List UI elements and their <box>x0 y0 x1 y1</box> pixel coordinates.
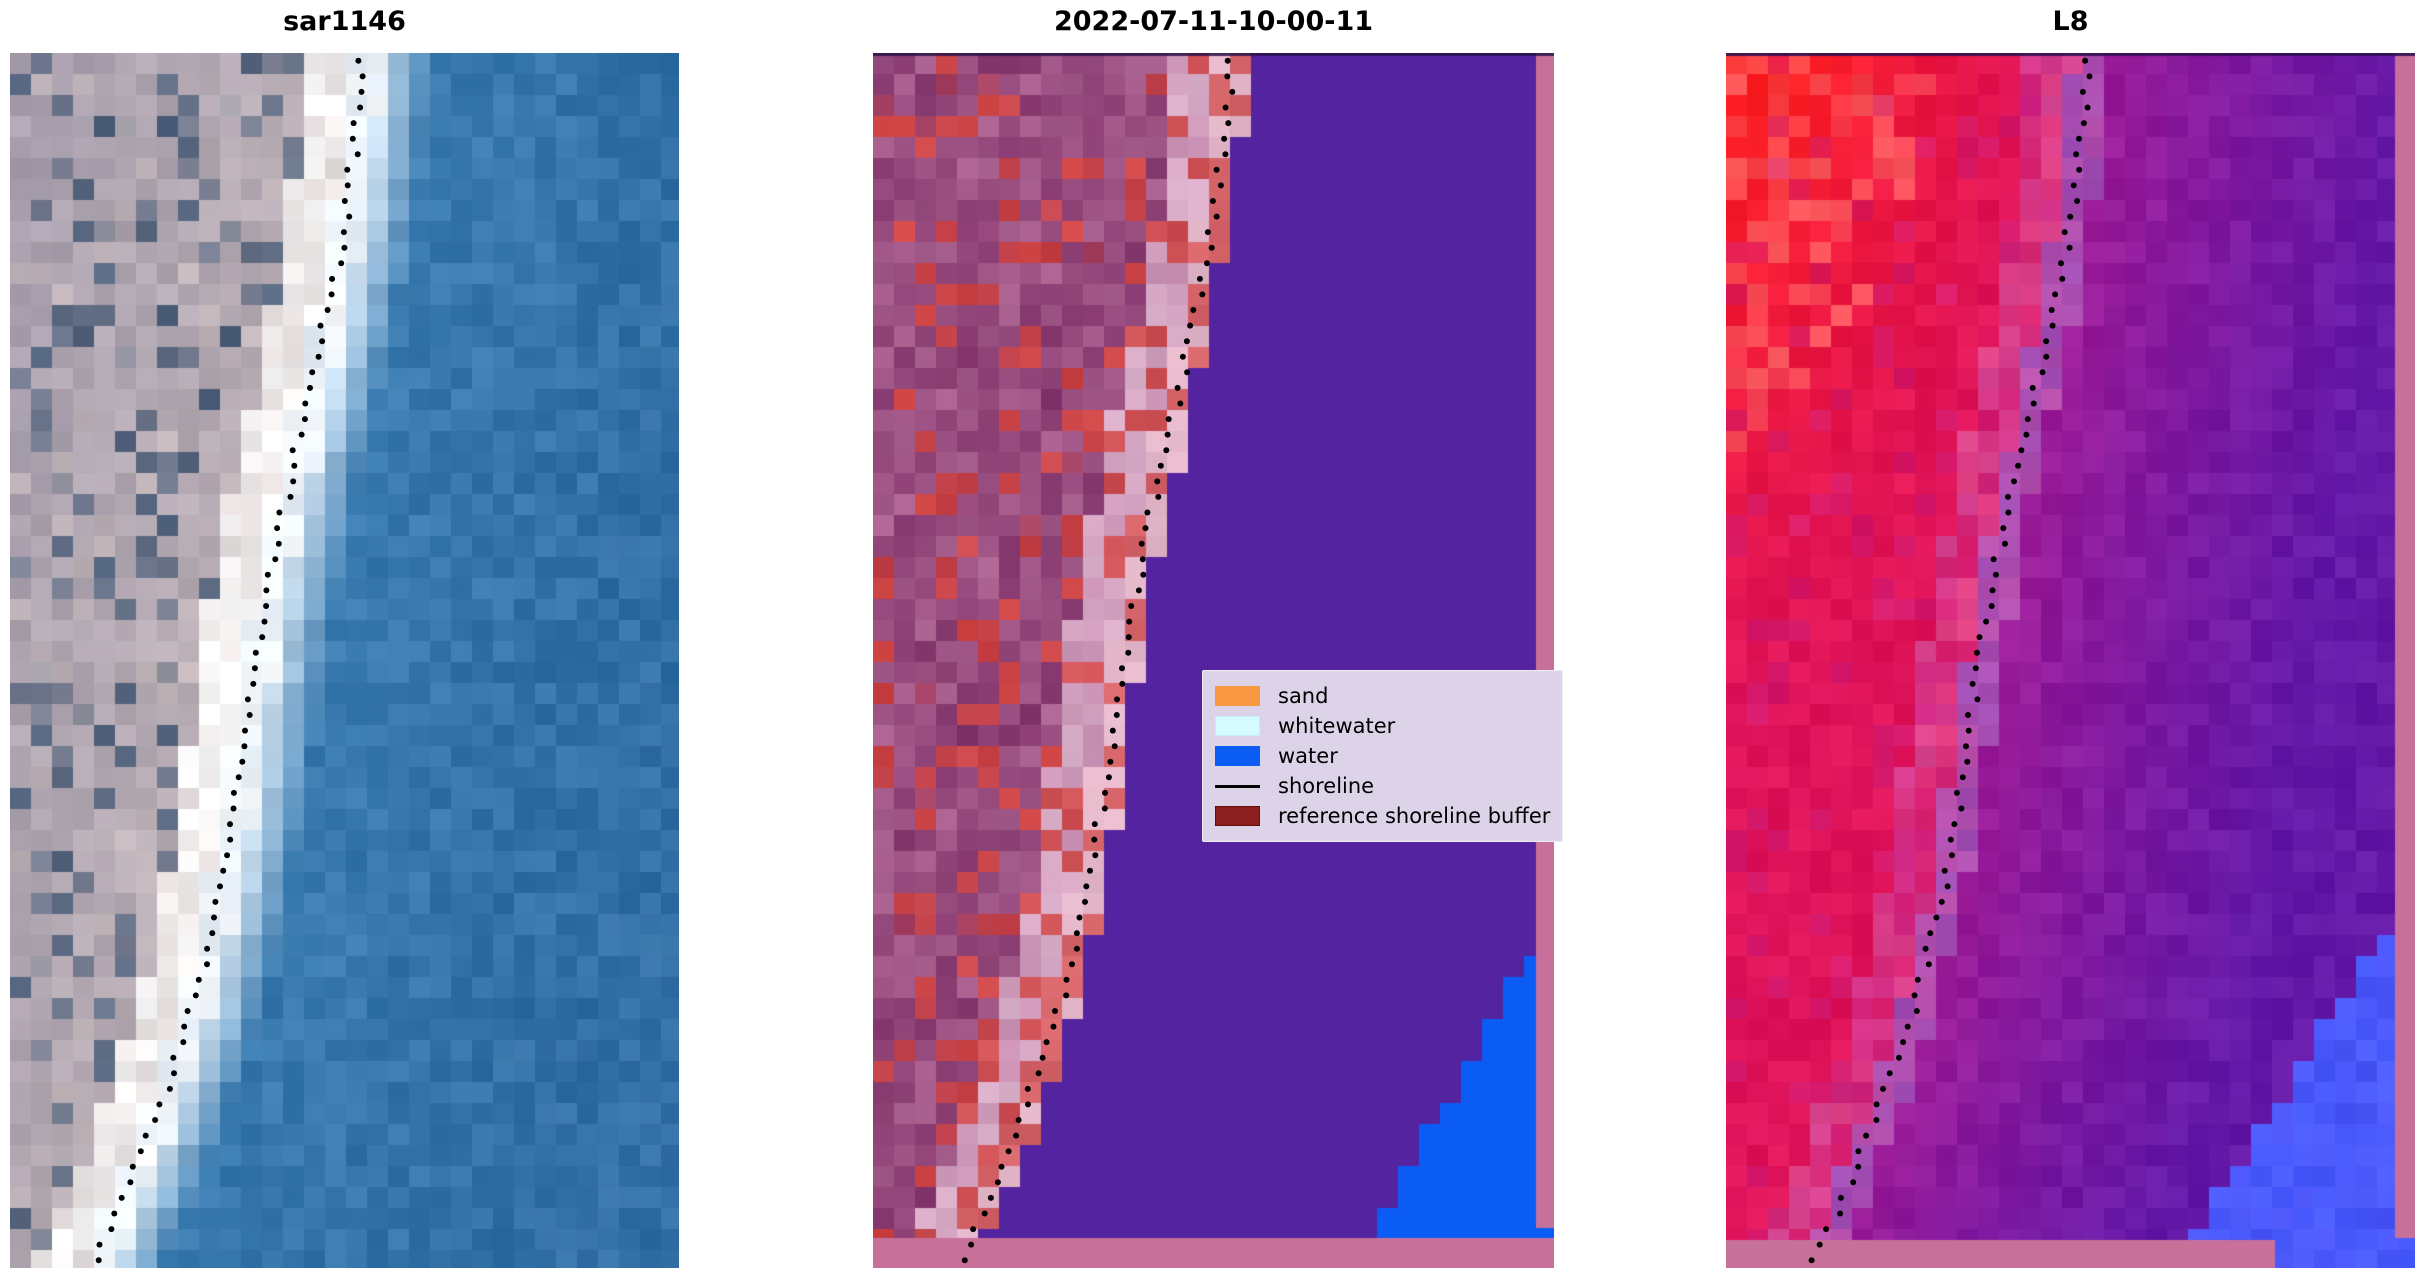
legend-item-water: water <box>1215 741 1550 771</box>
legend-box: sand whitewater water shoreline referenc… <box>1202 670 1563 842</box>
legend-label-reference-buffer: reference shoreline buffer <box>1278 804 1550 828</box>
panel-classified[interactable] <box>873 53 1554 1268</box>
legend-item-shoreline: shoreline <box>1215 771 1550 801</box>
legend-swatch-reference-buffer <box>1215 806 1260 826</box>
legend-item-reference-buffer: reference shoreline buffer <box>1215 801 1550 831</box>
legend-item-sand: sand <box>1215 681 1550 711</box>
legend-label-sand: sand <box>1278 684 1328 708</box>
classified-image-canvas <box>873 53 1554 1268</box>
legend-swatch-sand <box>1215 686 1260 706</box>
panel-l8[interactable] <box>1726 53 2415 1268</box>
l8-image-canvas <box>1726 53 2415 1268</box>
panel-title-sar: sar1146 <box>10 6 679 38</box>
panel-sar[interactable] <box>10 53 679 1268</box>
legend-swatch-whitewater <box>1215 716 1260 736</box>
legend-label-water: water <box>1278 744 1338 768</box>
sar-image-canvas <box>10 53 679 1268</box>
legend-label-whitewater: whitewater <box>1278 714 1395 738</box>
panel-title-classified: 2022-07-11-10-00-11 <box>873 6 1554 38</box>
legend-swatch-shoreline <box>1215 785 1260 788</box>
legend-swatch-water <box>1215 746 1260 766</box>
panel-title-l8: L8 <box>1726 6 2415 38</box>
legend-item-whitewater: whitewater <box>1215 711 1550 741</box>
legend-label-shoreline: shoreline <box>1278 774 1374 798</box>
figure-root: sar1146 2022-07-11-10-00-11 L8 sand whit… <box>0 0 2426 1283</box>
